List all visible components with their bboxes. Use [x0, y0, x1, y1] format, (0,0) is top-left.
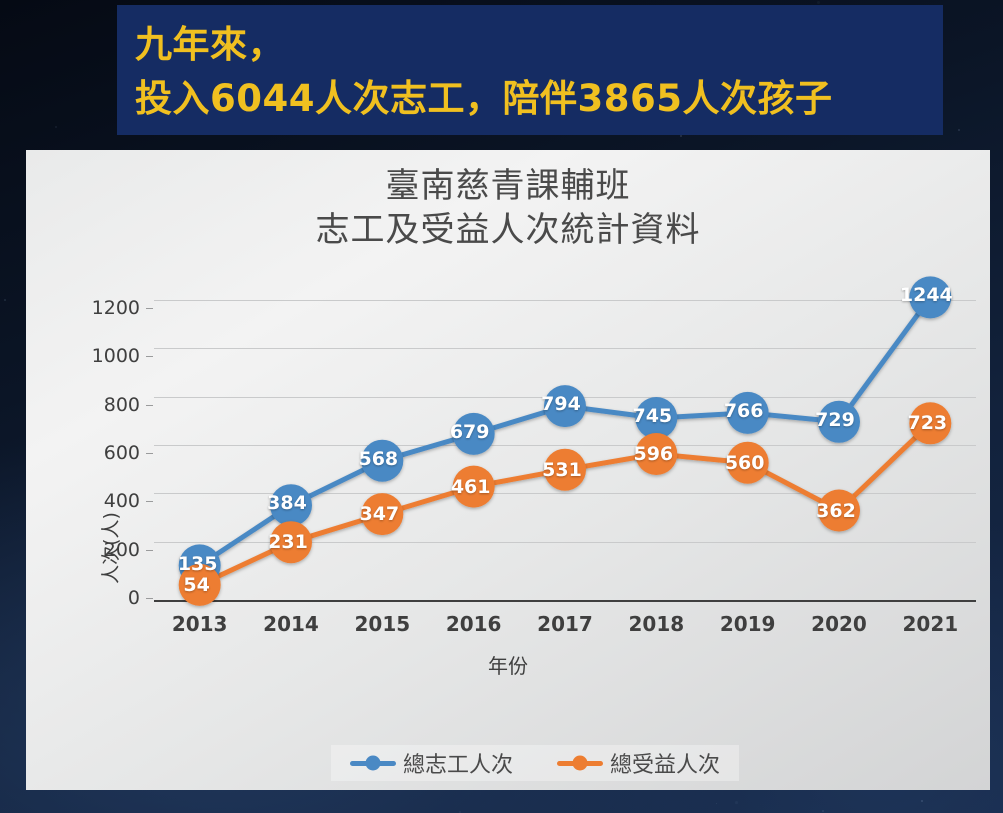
legend-label: 總受益人次 [610, 747, 720, 779]
data-point-marker[interactable] [453, 413, 495, 455]
background-speck [822, 810, 824, 812]
background-speck [680, 135, 682, 137]
data-point-marker[interactable] [453, 466, 495, 508]
background-speck [958, 129, 960, 131]
chart-legend: 總志工人次總受益人次 [331, 745, 739, 781]
legend-swatch-icon [350, 761, 396, 766]
data-point-marker[interactable] [727, 392, 769, 434]
series-lines [26, 150, 990, 790]
background-speck [735, 801, 738, 804]
data-point-marker[interactable] [179, 564, 221, 606]
background-speck [459, 811, 461, 813]
slide-canvas: 九年來， 投入6044人次志工，陪伴3865人次孩子 臺南慈青課輔班 志工及受益… [0, 0, 1003, 813]
banner-line-2: 投入6044人次志工，陪伴3865人次孩子 [135, 71, 943, 127]
data-point-marker[interactable] [909, 402, 951, 444]
data-point-marker[interactable] [635, 433, 677, 475]
background-speck [716, 803, 717, 804]
data-point-marker[interactable] [361, 440, 403, 482]
data-point-marker[interactable] [270, 521, 312, 563]
data-point-marker[interactable] [361, 493, 403, 535]
legend-item[interactable]: 總志工人次 [350, 747, 513, 779]
legend-item[interactable]: 總受益人次 [557, 747, 720, 779]
legend-label: 總志工人次 [403, 747, 513, 779]
background-speck [817, 1, 820, 4]
data-point-marker[interactable] [635, 397, 677, 439]
banner-line-1: 九年來， [135, 19, 943, 71]
data-point-marker[interactable] [818, 490, 860, 532]
data-point-marker[interactable] [544, 385, 586, 427]
data-point-marker[interactable] [909, 276, 951, 318]
background-speck [921, 800, 923, 802]
data-point-marker[interactable] [727, 442, 769, 484]
header-banner: 九年來， 投入6044人次志工，陪伴3865人次孩子 [117, 5, 943, 135]
data-point-marker[interactable] [270, 484, 312, 526]
data-point-marker[interactable] [818, 401, 860, 443]
legend-swatch-icon [557, 761, 603, 766]
data-point-marker[interactable] [544, 449, 586, 491]
background-speck [4, 299, 6, 301]
chart-panel: 臺南慈青課輔班 志工及受益人次統計資料 人次(人) 02004006008001… [26, 150, 990, 790]
background-speck [55, 126, 57, 128]
